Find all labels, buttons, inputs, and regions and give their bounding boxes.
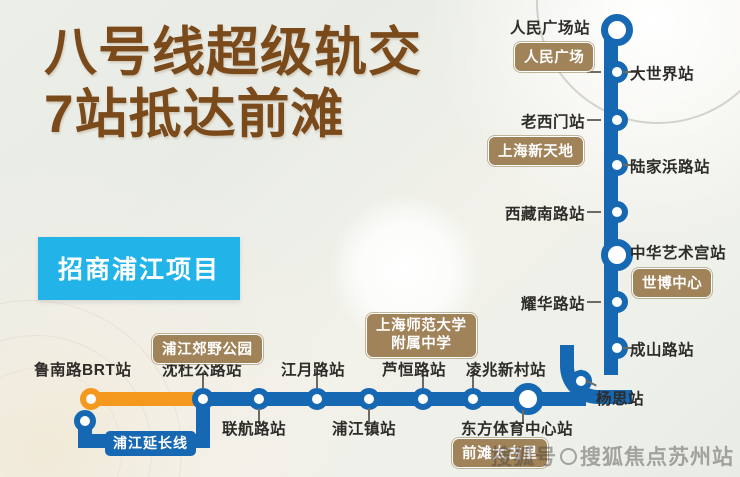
landmark-badge-shnu-affiliated[interactable]: 上海师范大学 附属中学 [366, 313, 477, 358]
station-label-laoximen: 老西门站 [380, 110, 585, 132]
station-label-yangsi: 杨思站 [596, 387, 644, 409]
watermark-right-text: 搜狐焦点苏州站 [580, 446, 734, 469]
station-dot-laoximen[interactable] [606, 109, 628, 131]
station-label-dashijie: 大世界站 [630, 62, 694, 84]
line-badge-pujiang-extension[interactable]: 浦江延长线 [105, 431, 196, 456]
landmark-badge-renmin-square[interactable]: 人民广场 [514, 42, 594, 72]
landmark-badge-line-1: 上海师范大学 [376, 318, 467, 334]
station-dot-renmin-square[interactable] [601, 14, 633, 46]
station-label-lianhang-road: 联航路站 [222, 417, 286, 439]
route-segment-brt-orange [92, 392, 206, 406]
landmark-badge-qiantan-taikooli[interactable]: 前滩太古里 [452, 438, 548, 468]
station-dot-jiangyue-road[interactable] [306, 388, 328, 410]
station-dot-oriental-sports[interactable] [512, 383, 544, 415]
station-dot-china-art-museum[interactable] [601, 239, 633, 271]
station-label-xizang-south-road: 西藏南路站 [380, 202, 585, 224]
leader-tick [587, 301, 601, 303]
station-label-jiangyue-road: 江月路站 [281, 358, 345, 380]
landmark-badge-pujiang-country-park[interactable]: 浦江郊野公园 [152, 334, 263, 364]
station-dot-xizang-south-road[interactable] [606, 201, 628, 223]
station-label-oriental-sports: 东方体育中心站 [461, 417, 573, 439]
leader-tick [587, 211, 601, 213]
station-dot-lingzhao-xincun[interactable] [462, 388, 484, 410]
station-dot-luheng-road[interactable] [412, 388, 434, 410]
headline-line-2: 7站抵达前滩 [44, 88, 422, 142]
station-label-luheng-road: 芦恒路站 [382, 358, 446, 380]
station-dot-yaohua-road[interactable] [606, 291, 628, 313]
watermark-at-icon [560, 448, 577, 465]
station-label-lingzhao-xincun: 凌兆新村站 [466, 358, 546, 380]
landmark-badge-line-2: 附属中学 [391, 336, 451, 352]
station-label-chengshan-road: 成山路站 [630, 338, 694, 360]
landmark-badge-xintiandi[interactable]: 上海新天地 [488, 136, 584, 166]
station-dot-pujiang-ext-terminus[interactable] [74, 410, 96, 432]
station-label-renmin-square: 人民广场站 [380, 16, 590, 38]
landmark-badge-expo-center[interactable]: 世博中心 [632, 268, 712, 298]
station-label-china-art-museum: 中华艺术宫站 [630, 241, 726, 263]
station-label-lunan-road-brt: 鲁南路BRT站 [34, 358, 131, 380]
leader-tick [587, 119, 601, 121]
decorative-ring [0, 368, 122, 477]
station-label-lujiabang-road: 陆家浜路站 [630, 155, 710, 177]
station-dot-shendu-highway[interactable] [192, 388, 214, 410]
station-label-yaohua-road: 耀华路站 [380, 292, 585, 314]
station-label-pujiang-town: 浦江镇站 [332, 417, 396, 439]
station-dot-lunan-road-brt[interactable] [80, 388, 102, 410]
headline-line-1: 八号线超级轨交 [44, 26, 422, 80]
poster-headline: 八号线超级轨交 7站抵达前滩 [44, 26, 422, 142]
station-dot-pujiang-town[interactable] [358, 388, 380, 410]
project-name-badge[interactable]: 招商浦江项目 [38, 237, 240, 300]
metro-line-poster: 八号线超级轨交 7站抵达前滩 招商浦江项目 人民广场 [0, 0, 740, 477]
station-dot-lianhang-road[interactable] [248, 388, 270, 410]
